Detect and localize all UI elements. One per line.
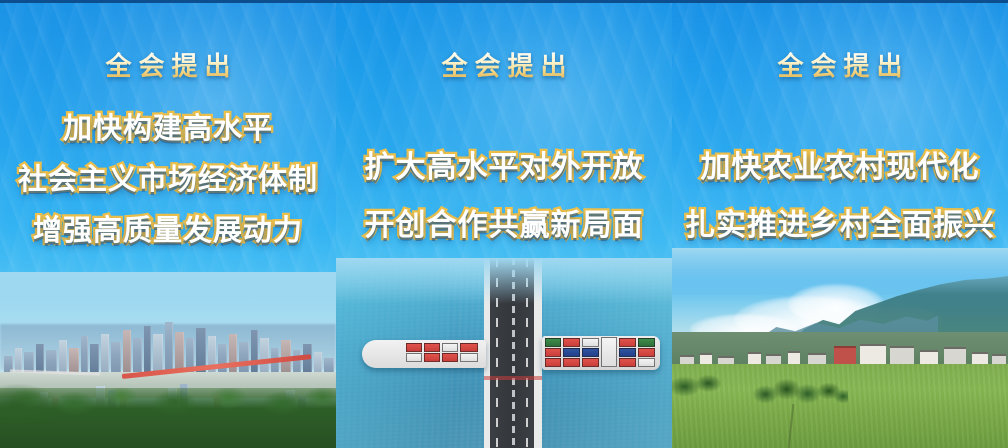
panel-headlines: 扩大高水平对外开放 开创合作共赢新局面 [336,153,672,241]
panel-kicker: 全会提出 [777,52,909,81]
panel-kicker: 全会提出 [105,52,237,81]
poster-panel-rural: 全会提出 加快农业农村现代化 扎实推进乡村全面振兴 [672,0,1008,448]
headline-line-3: 增强高质量发展动力 [0,217,336,246]
panel-kicker: 全会提出 [441,52,573,81]
poster-panel-opening-up: 全会提出 扩大高水平对外开放 开创合作共赢新局面 [336,0,672,448]
panel-text-block: 全会提出 扩大高水平对外开放 开创合作共赢新局面 [336,0,672,269]
panel-headlines: 加快农业农村现代化 扎实推进乡村全面振兴 [672,153,1008,241]
headline-line-1: 加快农业农村现代化 [672,153,1008,183]
headline-line-2: 开创合作共赢新局面 [336,211,672,241]
panel-text-block: 全会提出 加快农业农村现代化 扎实推进乡村全面振兴 [672,0,1008,269]
headline-line-2: 扎实推进乡村全面振兴 [672,211,1008,241]
poster-triptych: 全会提出 加快构建高水平 社会主义市场经济体制 增强高质量发展动力 [0,0,1008,448]
panel-text-block: 全会提出 加快构建高水平 社会主义市场经济体制 增强高质量发展动力 [0,0,336,268]
headline-line-2: 社会主义市场经济体制 [0,166,336,195]
panel-headlines: 加快构建高水平 社会主义市场经济体制 增强高质量发展动力 [0,115,336,246]
headline-line-1: 扩大高水平对外开放 [336,153,672,183]
headline-line-1: 加快构建高水平 [0,115,336,144]
poster-panel-economy: 全会提出 加快构建高水平 社会主义市场经济体制 增强高质量发展动力 [0,0,336,448]
